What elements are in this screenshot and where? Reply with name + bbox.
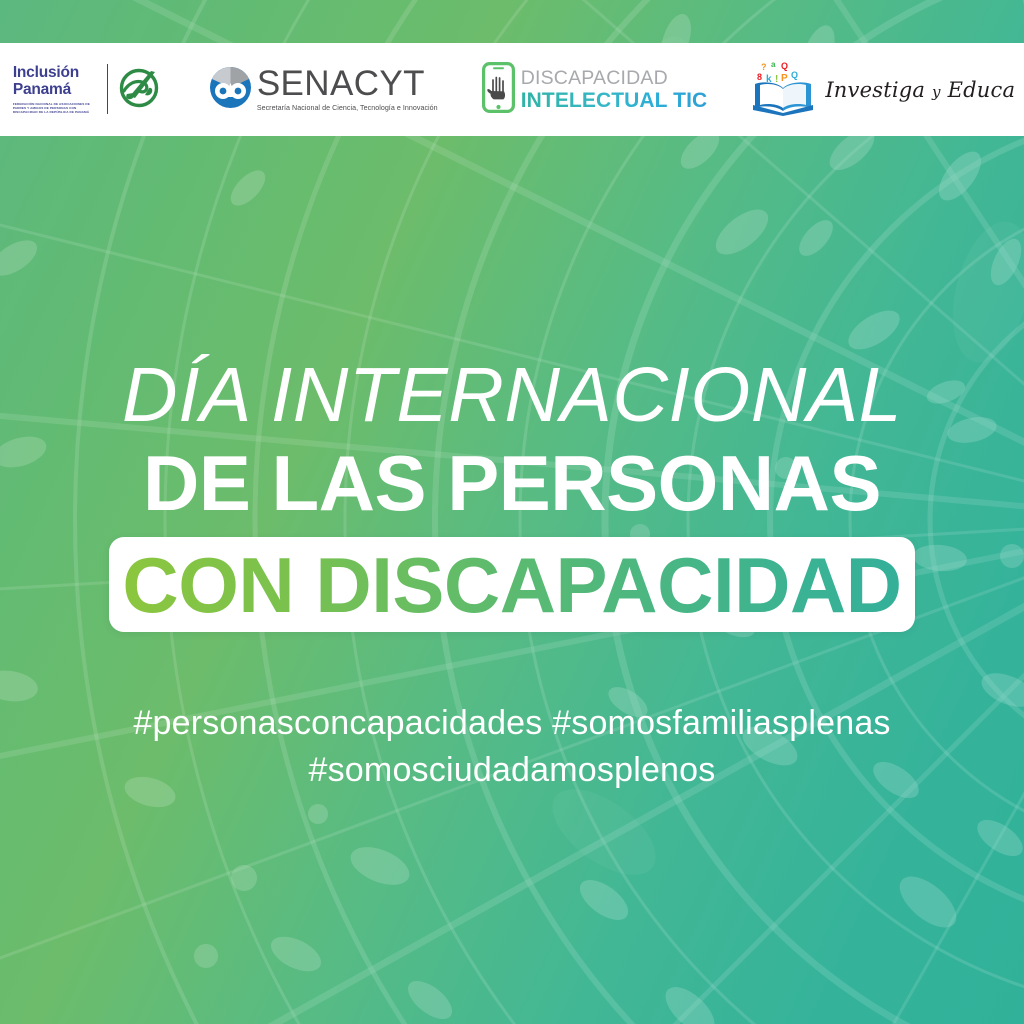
senacyt-wordmark: SENACYT	[257, 66, 438, 102]
headline-line-1: DÍA INTERNACIONAL	[0, 352, 1024, 438]
headline-line-3: CON DISCAPACIDAD	[122, 545, 901, 625]
sponsor-logo-band: Inclusión Panamá Federación Nacional de …	[0, 43, 1024, 136]
hashtag-block: #personasconcapacidades #somosfamiliaspl…	[0, 700, 1024, 794]
senacyt-mark-icon	[209, 66, 252, 114]
dit-line1: DISCAPACIDAD	[521, 68, 708, 89]
hashtag-row-1: #personasconcapacidades #somosfamiliaspl…	[0, 700, 1024, 747]
svg-text:?: ?	[761, 62, 767, 72]
iye-conjunction: y	[932, 83, 941, 101]
headline-line-2: DE LAS PERSONAS	[0, 442, 1024, 524]
logo-inclusion-panama: Inclusión Panamá Federación Nacional de …	[13, 64, 165, 116]
dit-line2: INTELECTUAL TIC	[521, 89, 708, 112]
poster-canvas: Inclusión Panamá Federación Nacional de …	[0, 0, 1024, 1024]
dit-textblock: DISCAPACIDAD INTELECTUAL TIC	[521, 68, 708, 112]
logo-investiga-y-educa: ? a Q 8 k ! P Q Investiga	[749, 58, 1015, 121]
iye-word2: Educa	[948, 78, 1016, 102]
dit-line2-tic: TIC	[673, 89, 707, 112]
inclusion-panama-subtitle: Federación Nacional de Asociaciones de P…	[13, 102, 101, 115]
headline-highlight-box: CON DISCAPACIDAD	[109, 537, 915, 632]
inclusion-panama-line2: Panamá	[13, 81, 71, 98]
svg-text:a: a	[771, 60, 776, 69]
inclusion-panama-emblem-icon	[115, 65, 165, 116]
logo-senacyt: SENACYT Secretaría Nacional de Ciencia, …	[209, 66, 438, 114]
headline-block: DÍA INTERNACIONAL DE LAS PERSONAS CON DI…	[0, 352, 1024, 632]
svg-text:!: !	[775, 74, 778, 85]
investiga-y-educa-wordmark: Investiga y Educa	[825, 78, 1015, 102]
smartphone-hand-icon	[482, 62, 515, 118]
inclusion-panama-line1: Inclusión	[13, 64, 79, 81]
senacyt-subtitle: Secretaría Nacional de Ciencia, Tecnolog…	[257, 104, 438, 113]
svg-text:8: 8	[757, 72, 762, 82]
svg-text:Q: Q	[791, 70, 798, 80]
open-book-icon: ? a Q 8 k ! P Q	[749, 58, 817, 121]
iye-word1: Investiga	[825, 78, 925, 102]
inclusion-panama-textblock: Inclusión Panamá Federación Nacional de …	[13, 64, 108, 115]
hashtag-row-2: #somosciudadamosplenos	[0, 747, 1024, 794]
svg-text:Q: Q	[781, 61, 788, 71]
dit-line2-main: INTELECTUAL	[521, 89, 668, 112]
svg-text:P: P	[781, 73, 788, 84]
senacyt-textblock: SENACYT Secretaría Nacional de Ciencia, …	[257, 66, 438, 113]
logo-discapacidad-intelectual-tic: DISCAPACIDAD INTELECTUAL TIC	[482, 62, 708, 118]
